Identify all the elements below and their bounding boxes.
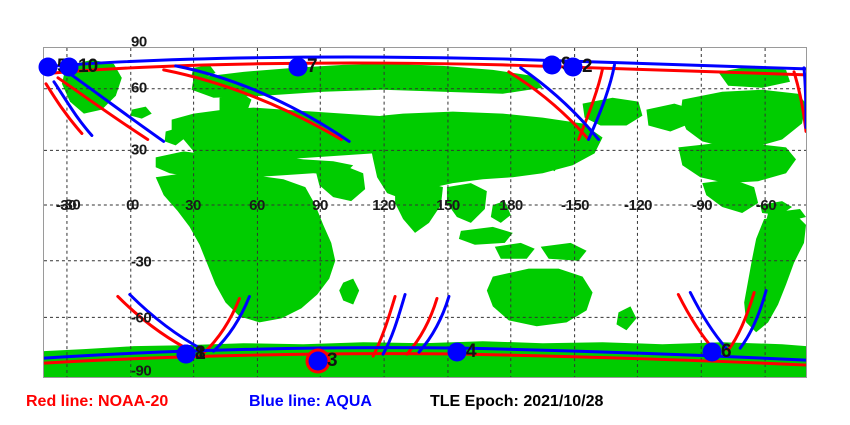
lon-tick--60: -60 [756, 197, 776, 214]
satellite-marker-10[interactable] [60, 58, 79, 77]
ground-track-map-page: -30 0 30 60 90 120 150 180 -150 -120 -90… [0, 0, 850, 425]
satellite-marker-9[interactable] [543, 56, 562, 75]
lon-tick-150: 150 [436, 197, 460, 214]
satellite-marker-2[interactable] [564, 58, 583, 77]
lat-tick-30: 30 [131, 142, 147, 159]
satellite-marker-label-4: 4 [466, 341, 476, 363]
lon-tick-120: 120 [372, 197, 396, 214]
lat-tick-0: 0 [131, 197, 139, 214]
satellite-marker-3[interactable] [309, 352, 328, 371]
legend-bar: Red line: NOAA-20 Blue line: AQUA TLE Ep… [0, 393, 850, 425]
satellite-marker-4[interactable] [448, 343, 467, 362]
satellite-marker-label-1: 1 [195, 343, 205, 365]
lat-tick--90: -90 [131, 363, 151, 380]
satellite-marker-label-3: 3 [327, 350, 337, 372]
lat-tick--30: -30 [131, 254, 151, 271]
lon-tick-60: 60 [249, 197, 265, 214]
lon-tick-90: 90 [312, 197, 328, 214]
legend-blue-line-aqua: Blue line: AQUA [249, 393, 372, 411]
legend-red-line-noaa20: Red line: NOAA-20 [26, 393, 168, 411]
satellite-marker-label-2: 2 [582, 56, 592, 78]
lon-tick-30: 30 [185, 197, 201, 214]
lon-tick--150: -150 [561, 197, 589, 214]
lon-tick-180: 180 [499, 197, 523, 214]
satellite-marker-6[interactable] [703, 343, 722, 362]
satellite-marker-label-10: 10 [78, 56, 97, 78]
legend-tle-epoch: TLE Epoch: 2021/10/28 [430, 393, 603, 411]
satellite-marker-1[interactable] [177, 345, 196, 364]
lat-tick-60: 60 [131, 80, 147, 97]
satellite-marker-label-7: 7 [307, 56, 317, 78]
satellite-marker-5[interactable] [39, 58, 58, 77]
lon-tick--90: -90 [692, 197, 712, 214]
lat-tick--60: -60 [131, 310, 151, 327]
lat-tick-90: 90 [131, 34, 147, 51]
lat-tick--30-left: -30 [60, 197, 80, 214]
lon-tick--120: -120 [624, 197, 652, 214]
satellite-marker-7[interactable] [289, 58, 308, 77]
satellite-marker-label-6: 6 [721, 341, 731, 363]
